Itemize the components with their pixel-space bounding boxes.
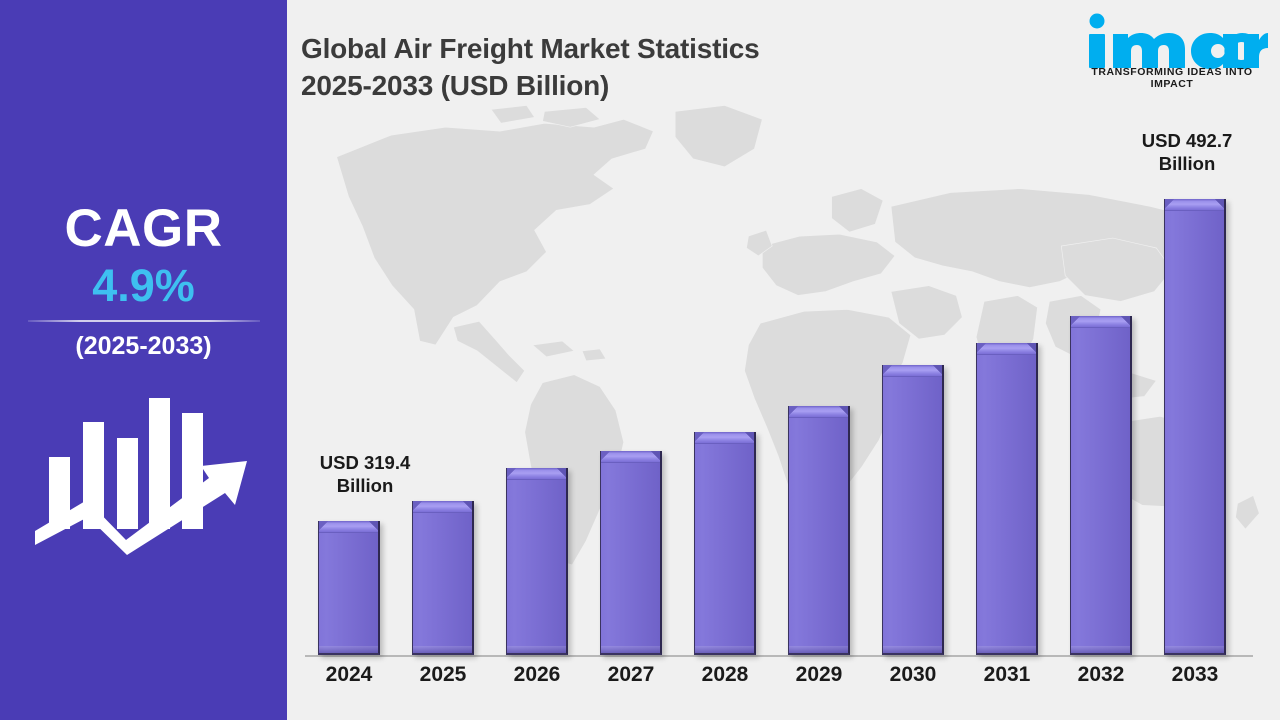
bar-base-shade [601, 646, 660, 653]
bar-base-shade [413, 646, 472, 653]
x-axis-label-2031: 2031 [961, 663, 1053, 687]
bar-top-cap [601, 451, 660, 463]
bar-top-cap [977, 343, 1036, 355]
x-axis-label-2033: 2033 [1149, 663, 1241, 687]
bar-chart-plot: 2024202520262027202820292030203120322033 [287, 0, 1280, 720]
bar-2027 [600, 451, 662, 655]
x-axis-label-2026: 2026 [491, 663, 583, 687]
bar-base-shade [883, 646, 942, 653]
bar-2031 [976, 343, 1038, 655]
bar-base-shade [1071, 646, 1130, 653]
bar-2025 [412, 501, 474, 655]
value-label-2033: USD 492.7 Billion [1107, 130, 1267, 176]
bar-2028 [694, 432, 756, 655]
bar-base-shade [789, 646, 848, 653]
x-axis-label-2029: 2029 [773, 663, 865, 687]
bar-top-cap [507, 468, 566, 480]
x-axis-label-2027: 2027 [585, 663, 677, 687]
x-axis-label-2025: 2025 [397, 663, 489, 687]
bar-2024 [318, 521, 380, 655]
x-axis-label-2028: 2028 [679, 663, 771, 687]
bar-2029 [788, 406, 850, 655]
bar-base-shade [695, 646, 754, 653]
bar-2030 [882, 365, 944, 655]
bar-top-cap [319, 521, 378, 533]
bar-base-shade [319, 646, 378, 653]
bar-base-shade [507, 646, 566, 653]
value-label-2024: USD 319.4 Billion [290, 452, 440, 498]
bar-top-cap [789, 406, 848, 418]
bar-2032 [1070, 316, 1132, 655]
bar-base-shade [977, 646, 1036, 653]
cagr-title: CAGR [64, 202, 222, 255]
bar-top-cap [1165, 199, 1224, 211]
bar-top-cap [413, 501, 472, 513]
bar-top-cap [1071, 316, 1130, 328]
cagr-period: (2025-2033) [75, 332, 211, 361]
bar-2033 [1164, 199, 1226, 655]
bar-top-cap [695, 432, 754, 444]
bar-base-shade [1165, 646, 1224, 653]
x-axis-label-2024: 2024 [303, 663, 395, 687]
growth-bar-chart-arrow-icon [31, 389, 257, 560]
cagr-value: 4.9% [92, 263, 195, 308]
cagr-divider [28, 320, 260, 322]
cagr-panel: CAGR 4.9% (2025-2033) [0, 0, 287, 720]
bar-top-cap [883, 365, 942, 377]
x-axis-label-2030: 2030 [867, 663, 959, 687]
chart-area: Global Air Freight Market Statistics 202… [287, 0, 1280, 720]
x-axis-line [305, 655, 1253, 657]
x-axis-label-2032: 2032 [1055, 663, 1147, 687]
bar-2026 [506, 468, 568, 655]
